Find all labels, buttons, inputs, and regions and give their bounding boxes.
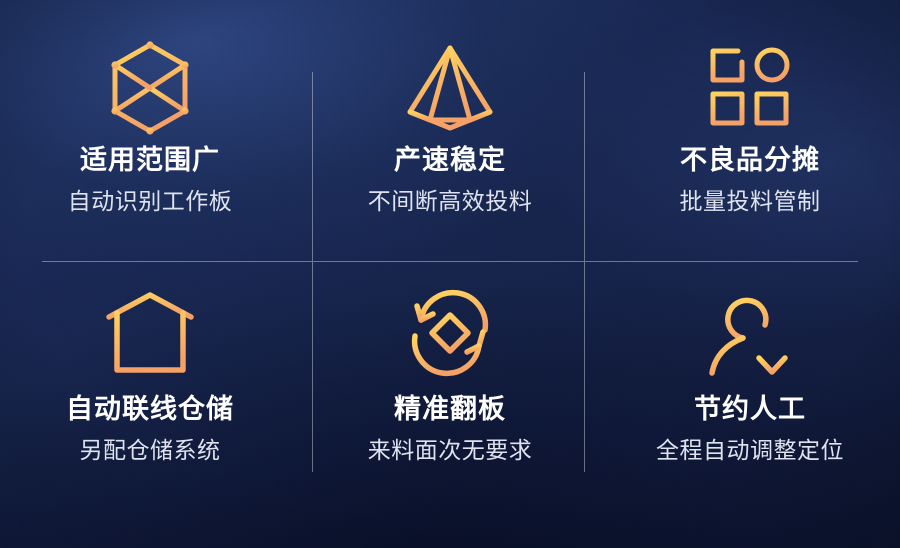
features-grid: 适用范围广 自动识别工作板 (0, 0, 900, 548)
feature-title: 节约人工 (694, 395, 806, 425)
feature-subtitle: 全程自动调整定位 (656, 438, 844, 463)
warehouse-icon (98, 285, 202, 381)
feature-card-3[interactable]: 不良品分摊 批量投料管制 (600, 0, 900, 261)
feature-title: 适用范围广 (80, 146, 220, 176)
pyramid-icon (398, 40, 502, 136)
feature-subtitle: 另配仓储系统 (80, 438, 221, 463)
feature-card-6[interactable]: 节约人工 全程自动调整定位 (600, 261, 900, 548)
feature-subtitle: 自动识别工作板 (68, 189, 233, 214)
feature-title: 精准翻板 (394, 395, 506, 425)
feature-subtitle: 批量投料管制 (680, 189, 821, 214)
feature-title: 自动联线仓储 (66, 395, 234, 425)
grid-shapes-icon (698, 40, 802, 136)
feature-subtitle: 来料面次无要求 (368, 438, 533, 463)
feature-subtitle: 不间断高效投料 (368, 189, 533, 214)
feature-card-2[interactable]: 产速稳定 不间断高效投料 (300, 0, 600, 261)
feature-card-4[interactable]: 自动联线仓储 另配仓储系统 (0, 261, 300, 548)
feature-title: 不良品分摊 (680, 146, 820, 176)
hexagon-cube-icon (98, 40, 202, 136)
feature-card-1[interactable]: 适用范围广 自动识别工作板 (0, 0, 300, 261)
feature-title: 产速稳定 (394, 146, 506, 176)
rotate-diamond-icon (398, 285, 502, 381)
feature-card-5[interactable]: 精准翻板 来料面次无要求 (300, 261, 600, 548)
person-arrow-down-icon (698, 285, 802, 381)
feature-grid-banner: 适用范围广 自动识别工作板 (0, 0, 900, 548)
